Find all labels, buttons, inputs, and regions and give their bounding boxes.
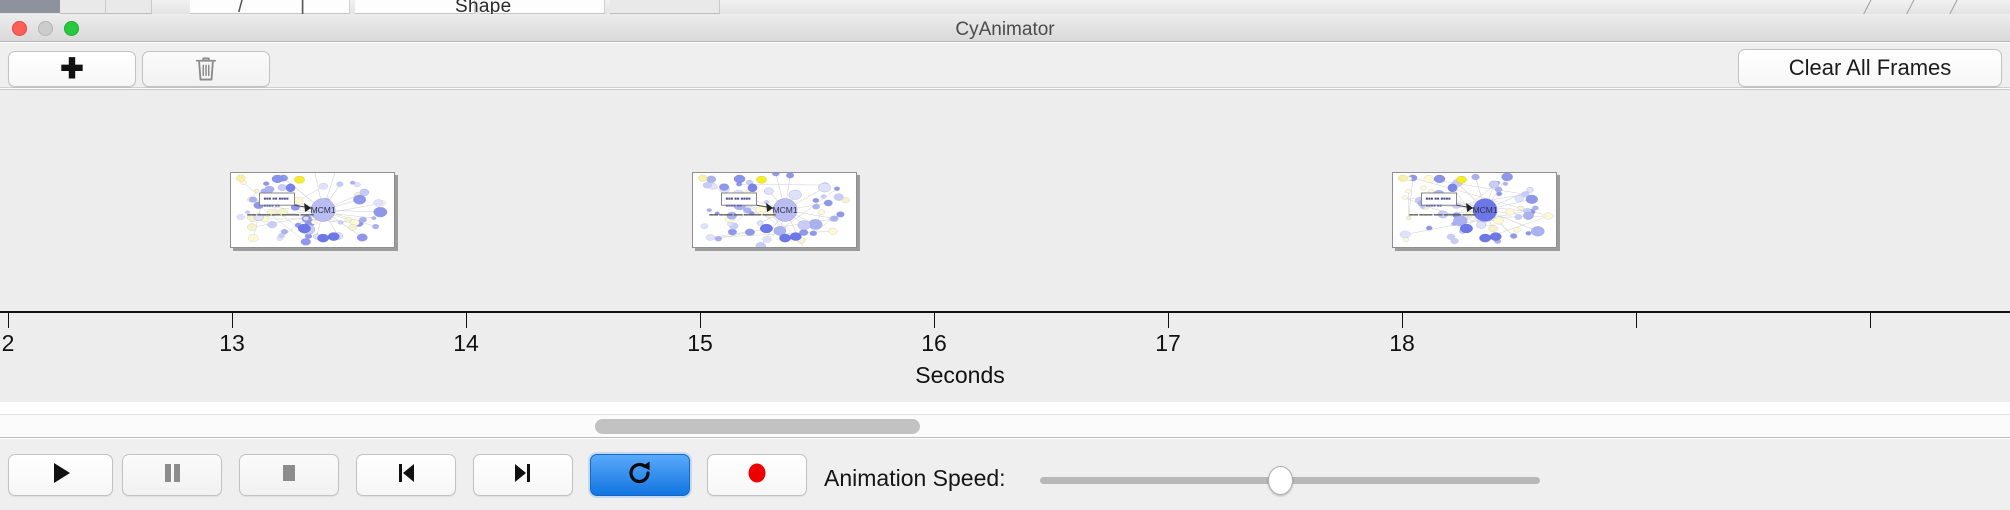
window-title: CyAnimator xyxy=(0,19,2010,41)
loop-icon xyxy=(626,459,654,492)
background-chip-1 xyxy=(60,0,106,14)
axis-tick-label: 15 xyxy=(687,330,713,357)
svg-text:■■■ ■■ ■■■■: ■■■ ■■ ■■■■ xyxy=(1426,196,1452,201)
clear-all-frames-button[interactable]: Clear All Frames xyxy=(1738,49,2002,87)
svg-text:■■■ ■■ ■■■■: ■■■ ■■ ■■■■ xyxy=(264,196,290,201)
playback-control-bar: Animation Speed: xyxy=(0,439,2010,510)
pause-button[interactable] xyxy=(122,454,222,496)
background-window-label: Shape xyxy=(455,0,511,14)
title-bar: CyAnimator xyxy=(0,14,2010,42)
background-arrow-icons: ╱╱╱ xyxy=(1863,0,1992,14)
background-glyph-slash: / xyxy=(238,0,244,14)
background-window-titlebar xyxy=(0,0,60,13)
timeline-axis xyxy=(0,311,2010,313)
stop-button[interactable] xyxy=(239,454,339,496)
axis-tick xyxy=(1168,313,1169,328)
axis-tick xyxy=(1636,313,1637,328)
play-button[interactable] xyxy=(8,454,113,496)
skip-end-icon xyxy=(510,460,536,491)
timeline-track[interactable]: ■■■ ■■ ■■■■■■■■ ■■MCM1▬▬ ▬▬▬ ▬▬ ▬▬▬▬ ▬▬▬… xyxy=(0,90,2010,311)
axis-tick-label: 13 xyxy=(219,330,245,357)
axis-tick xyxy=(1402,313,1403,328)
axis-title: Seconds xyxy=(915,362,1005,389)
axis-tick xyxy=(232,313,233,328)
svg-text:MCM1: MCM1 xyxy=(773,205,798,215)
svg-text:■■■■ ■■: ■■■■ ■■ xyxy=(726,203,743,208)
svg-text:■■■■ ■■: ■■■■ ■■ xyxy=(1426,203,1443,208)
animation-speed-slider-thumb[interactable] xyxy=(1268,466,1293,495)
axis-tick xyxy=(466,313,467,328)
axis-tick-label: 14 xyxy=(453,330,479,357)
axis-tick xyxy=(700,313,701,328)
timeline-frame-thumbnail[interactable]: ■■■ ■■ ■■■■■■■■ ■■MCM1▬▬ ▬▬▬ ▬▬ ▬▬▬▬ ▬▬▬ xyxy=(230,172,395,248)
svg-text:▬▬ ▬▬▬ ▬▬ ▬▬▬▬ ▬▬▬: ▬▬ ▬▬▬ ▬▬ ▬▬▬▬ ▬▬▬ xyxy=(247,212,314,217)
frame-network-preview: ■■■ ■■ ■■■■■■■■ ■■MCM1▬▬ ▬▬▬ ▬▬ ▬▬▬▬ ▬▬▬ xyxy=(692,172,857,248)
loop-button[interactable] xyxy=(590,454,690,496)
trash-icon xyxy=(195,56,217,82)
skip-end-button[interactable] xyxy=(473,454,573,496)
background-window-strip: / | Shape ╱╱╱ xyxy=(0,0,2010,14)
cyanimator-window: / | Shape ╱╱╱ CyAnimator ✚ Clear All Fra… xyxy=(0,0,2010,510)
pause-icon xyxy=(159,460,185,491)
record-button[interactable] xyxy=(707,454,807,496)
stop-icon xyxy=(276,460,302,491)
add-frame-button[interactable]: ✚ xyxy=(8,51,136,87)
play-icon xyxy=(48,460,74,491)
background-field-1 xyxy=(190,0,350,14)
background-chip-3 xyxy=(610,0,720,14)
frame-toolbar: ✚ Clear All Frames xyxy=(0,43,2010,88)
axis-title-row: Seconds xyxy=(0,362,2010,389)
svg-text:MCM1: MCM1 xyxy=(1473,205,1498,215)
record-icon xyxy=(744,460,770,491)
background-chip-2 xyxy=(106,0,152,14)
animation-speed-label: Animation Speed: xyxy=(824,465,1006,492)
svg-text:▬▬ ▬▬▬ ▬▬ ▬▬▬▬ ▬▬▬: ▬▬ ▬▬▬ ▬▬ ▬▬▬▬ ▬▬▬ xyxy=(1409,212,1476,217)
svg-text:▬▬ ▬▬▬ ▬▬ ▬▬▬▬ ▬▬▬: ▬▬ ▬▬▬ ▬▬ ▬▬▬▬ ▬▬▬ xyxy=(709,212,776,217)
frame-network-preview: ■■■ ■■ ■■■■■■■■ ■■MCM1▬▬ ▬▬▬ ▬▬ ▬▬▬▬ ▬▬▬ xyxy=(1392,172,1557,248)
timeline-scrollbar[interactable] xyxy=(0,414,2010,438)
timeline-frame-thumbnail[interactable]: ■■■ ■■ ■■■■■■■■ ■■MCM1▬▬ ▬▬▬ ▬▬ ▬▬▬▬ ▬▬▬ xyxy=(692,172,857,248)
background-glyph-bar: | xyxy=(300,0,305,14)
timeline-frame-thumbnail[interactable]: ■■■ ■■ ■■■■■■■■ ■■MCM1▬▬ ▬▬▬ ▬▬ ▬▬▬▬ ▬▬▬ xyxy=(1392,172,1557,248)
skip-start-icon xyxy=(393,460,419,491)
axis-tick-label: 2 xyxy=(2,330,15,357)
svg-text:■■■ ■■ ■■■■: ■■■ ■■ ■■■■ xyxy=(726,196,752,201)
clear-all-frames-label: Clear All Frames xyxy=(1789,55,1952,81)
axis-tick-label: 18 xyxy=(1389,330,1415,357)
delete-frame-button[interactable] xyxy=(142,51,270,87)
axis-tick-label: 16 xyxy=(921,330,947,357)
timeline-panel[interactable]: ■■■ ■■ ■■■■■■■■ ■■MCM1▬▬ ▬▬▬ ▬▬ ▬▬▬▬ ▬▬▬… xyxy=(0,89,2010,402)
frame-network-preview: ■■■ ■■ ■■■■■■■■ ■■MCM1▬▬ ▬▬▬ ▬▬ ▬▬▬▬ ▬▬▬ xyxy=(230,172,395,248)
axis-tick xyxy=(1870,313,1871,328)
axis-tick xyxy=(934,313,935,328)
skip-start-button[interactable] xyxy=(356,454,456,496)
svg-text:■■■■ ■■: ■■■■ ■■ xyxy=(264,203,281,208)
axis-tick xyxy=(8,313,9,328)
svg-text:MCM1: MCM1 xyxy=(311,205,336,215)
timeline-scrollbar-thumb[interactable] xyxy=(595,419,920,434)
axis-tick-label: 17 xyxy=(1155,330,1181,357)
plus-icon: ✚ xyxy=(60,55,83,83)
